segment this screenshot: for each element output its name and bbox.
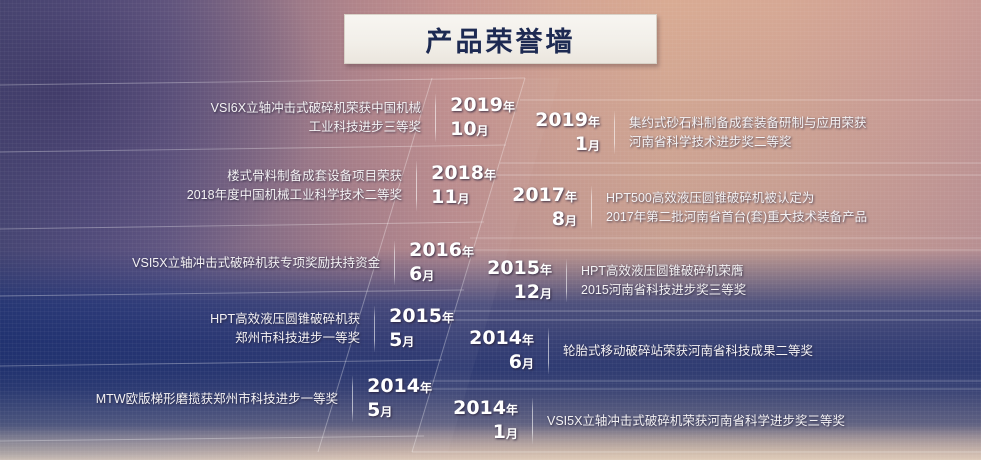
date-month: 5 xyxy=(367,399,380,421)
timeline-date: 2014年 6月 xyxy=(462,327,534,375)
row-divider xyxy=(435,94,436,142)
date-year: 2015 xyxy=(487,257,540,279)
date-year-unit: 年 xyxy=(540,263,552,277)
timeline-desc: 集约式砂石料制备成套装备研制与应用荣获 河南省科学技术进步奖二等奖 xyxy=(629,114,867,152)
date-month-unit: 月 xyxy=(422,269,434,283)
date-month: 12 xyxy=(514,281,540,303)
date-month: 1 xyxy=(493,421,506,443)
date-month: 1 xyxy=(575,133,588,155)
date-year-unit: 年 xyxy=(503,100,515,114)
row-divider xyxy=(566,259,567,302)
date-year-unit: 年 xyxy=(442,311,454,325)
date-year-unit: 年 xyxy=(462,245,474,259)
row-divider xyxy=(352,376,353,422)
date-month-unit: 月 xyxy=(380,405,392,419)
date-month: 6 xyxy=(509,351,522,373)
timeline-desc: 楼式骨料制备成套设备项目荣获 2018年度中国机械工业科学技术二等奖 xyxy=(187,167,402,205)
timeline-desc: HPT高效液压圆锥破碎机荣膺 2015河南省科技进步奖三等奖 xyxy=(581,262,746,300)
honor-wall-infographic: VSI6X立轴冲击式破碎机荣获中国机械 工业科技进步三等奖 2019年 10月 … xyxy=(0,0,981,460)
date-month: 6 xyxy=(409,263,422,285)
date-month-unit: 月 xyxy=(458,192,470,206)
timeline-row-left-5[interactable]: MTW欧版梯形磨揽获郑州市科技进步一等奖 2014年 5月 xyxy=(14,370,432,428)
page-title: 产品荣誉墙 xyxy=(426,20,576,59)
timeline-date: 2019年 10月 xyxy=(450,94,515,142)
date-year: 2015 xyxy=(389,305,442,327)
date-month-unit: 月 xyxy=(477,124,489,138)
row-divider xyxy=(416,161,417,211)
timeline-row-right-2[interactable]: 2017年 8月 HPT500高效液压圆锥破碎机被认定为 2017年第二批河南省… xyxy=(505,180,970,235)
timeline-desc: HPT500高效液压圆锥破碎机被认定为 2017年第二批河南省首台(套)重大技术… xyxy=(606,189,867,227)
row-divider xyxy=(374,306,375,352)
row-divider xyxy=(532,398,533,444)
date-month-unit: 月 xyxy=(522,357,534,371)
timeline-date: 2015年 5月 xyxy=(389,305,454,353)
timeline-row-right-1[interactable]: 2019年 1月 集约式砂石料制备成套装备研制与应用荣获 河南省科学技术进步奖二… xyxy=(528,105,968,160)
timeline-row-left-4[interactable]: HPT高效液压圆锥破碎机获 郑州市科技进步一等奖 2015年 5月 xyxy=(20,300,454,358)
date-year: 2019 xyxy=(535,109,588,131)
timeline-desc: 轮胎式移动破碎站荣获河南省科技成果二等奖 xyxy=(563,342,813,361)
timeline-date: 2015年 12月 xyxy=(480,257,552,305)
date-month-unit: 月 xyxy=(402,335,414,349)
date-year-unit: 年 xyxy=(506,403,518,417)
timeline-row-right-5[interactable]: 2014年 1月 VSI5X立轴冲击式破碎机荣获河南省科学进步奖三等奖 xyxy=(446,392,946,450)
timeline-date: 2014年 5月 xyxy=(367,375,432,423)
timeline-row-left-2[interactable]: 楼式骨料制备成套设备项目荣获 2018年度中国机械工业科学技术二等奖 2018年… xyxy=(30,155,496,217)
timeline-desc: VSI5X立轴冲击式破碎机获专项奖励扶持资金 xyxy=(132,254,380,273)
timeline-desc: VSI5X立轴冲击式破碎机荣获河南省科学进步奖三等奖 xyxy=(547,412,845,431)
date-month-unit: 月 xyxy=(506,427,518,441)
timeline-row-left-1[interactable]: VSI6X立轴冲击式破碎机荣获中国机械 工业科技进步三等奖 2019年 10月 xyxy=(60,88,515,148)
timeline-date: 2016年 6月 xyxy=(409,239,474,287)
page-title-box: 产品荣誉墙 xyxy=(344,14,657,64)
date-month-unit: 月 xyxy=(565,214,577,228)
timeline-date: 2018年 11月 xyxy=(431,162,496,210)
date-month-unit: 月 xyxy=(588,139,600,153)
date-year: 2014 xyxy=(367,375,420,397)
timeline-row-right-3[interactable]: 2015年 12月 HPT高效液压圆锥破碎机荣膺 2015河南省科技进步奖三等奖 xyxy=(480,253,950,308)
date-year: 2018 xyxy=(431,162,484,184)
timeline-desc: HPT高效液压圆锥破碎机获 郑州市科技进步一等奖 xyxy=(210,310,360,348)
date-month-unit: 月 xyxy=(540,287,552,301)
date-year-unit: 年 xyxy=(588,115,600,129)
row-divider xyxy=(548,328,549,374)
timeline-row-right-4[interactable]: 2014年 6月 轮胎式移动破碎站荣获河南省科技成果二等奖 xyxy=(462,322,942,380)
date-year: 2014 xyxy=(469,327,522,349)
timeline-date: 2019年 1月 xyxy=(528,109,600,157)
date-year-unit: 年 xyxy=(565,190,577,204)
date-year: 2016 xyxy=(409,239,462,261)
date-year-unit: 年 xyxy=(420,381,432,395)
timeline-date: 2014年 1月 xyxy=(446,397,518,445)
timeline-desc: MTW欧版梯形磨揽获郑州市科技进步一等奖 xyxy=(96,390,338,409)
date-year: 2019 xyxy=(450,94,503,116)
row-divider xyxy=(614,111,615,154)
date-year-unit: 年 xyxy=(484,168,496,182)
date-year: 2017 xyxy=(512,184,565,206)
date-month: 5 xyxy=(389,329,402,351)
date-month: 10 xyxy=(450,118,476,140)
date-year-unit: 年 xyxy=(522,333,534,347)
timeline-desc: VSI6X立轴冲击式破碎机荣获中国机械 工业科技进步三等奖 xyxy=(211,99,421,137)
date-month: 8 xyxy=(552,208,565,230)
timeline-date: 2017年 8月 xyxy=(505,184,577,232)
date-month: 11 xyxy=(431,186,457,208)
timeline-row-left-3[interactable]: VSI5X立轴冲击式破碎机获专项奖励扶持资金 2016年 6月 xyxy=(20,235,474,291)
date-year: 2014 xyxy=(453,397,506,419)
row-divider xyxy=(591,186,592,229)
row-divider xyxy=(394,241,395,285)
